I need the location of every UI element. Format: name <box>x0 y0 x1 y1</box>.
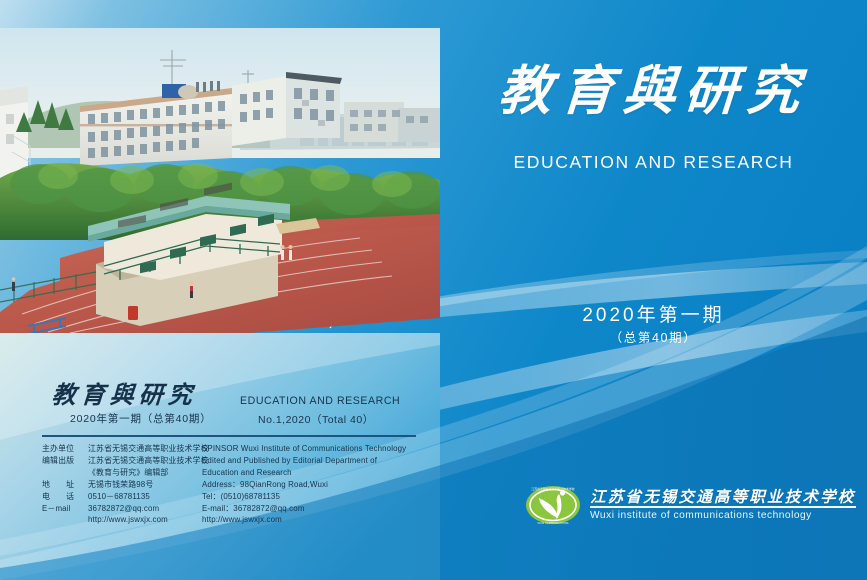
imprint-value-cn: 江苏省无锡交通高等职业技术学校 <box>88 443 209 455</box>
campus-photo <box>0 28 440 333</box>
imprint-label-cn: E－mail <box>42 503 88 515</box>
imprint-row-cn: 地 址无锡市钱荣路98号 <box>42 479 202 491</box>
imprint-row-cn: 主办单位江苏省无锡交通高等职业技术学校 <box>42 443 202 455</box>
logo-divider <box>590 506 856 508</box>
imprint-row-cn: 电 话0510－68781135 <box>42 491 202 503</box>
imprint-label-cn: 地 址 <box>42 479 88 491</box>
journal-cover-spread: 教育與研究 EDUCATION AND RESEARCH 2020年第一期 （总… <box>0 0 867 580</box>
logo-name-en: Wuxi institute of communications technol… <box>590 511 856 521</box>
imprint-column-en: SPINSOR Wuxi Institute of Communications… <box>202 443 422 526</box>
imprint-row-cn: http://www.jswxjx.com <box>42 514 202 526</box>
front-masthead-cn: 教育與研究 <box>438 62 867 120</box>
logo-name-cn: 江苏省无锡交通高等职业技术学校 <box>590 489 856 505</box>
imprint-row-cn: 《教育与研究》编辑部 <box>42 467 202 479</box>
imprint-value-cn: 36782872@qq.com <box>88 503 202 515</box>
imprint-row-en: http://www.jswxjx.com <box>202 514 422 526</box>
imprint-row-en: Address：98QianRong Road,Wuxi <box>202 479 422 491</box>
imprint-label-cn: 电 话 <box>42 491 88 503</box>
imprint-value-cn: 0510－68781135 <box>88 491 202 503</box>
imprint-label-cn <box>42 514 88 526</box>
imprint-value-cn: 《教育与研究》编辑部 <box>88 467 202 479</box>
front-masthead-en: EDUCATION AND RESEARCH <box>440 152 867 173</box>
imprint-row-en: Edited and Published by Editorial Depart… <box>202 455 422 467</box>
imprint-row-en: Tel：(0510)68781135 <box>202 491 422 503</box>
svg-text:江苏省无锡交通高等职业技术学校: 江苏省无锡交通高等职业技术学校 <box>531 486 574 491</box>
front-issue-total: （总第40期） <box>440 327 867 346</box>
imprint-value-cn: 江苏省无锡交通高等职业技术学校 <box>88 455 209 467</box>
imprint-row-cn: 编辑出版江苏省无锡交通高等职业技术学校 <box>42 455 202 467</box>
imprint-value-cn: 无锡市钱荣路98号 <box>88 479 202 491</box>
back-masthead-cn: 教育與研究 <box>51 375 198 410</box>
back-issue-cn: 2020年第一期（总第40期） <box>70 411 212 426</box>
school-emblem-icon: 江苏省无锡交通高等职业技术学校 WUXI COMMUNICATIONS <box>525 482 581 528</box>
svg-text:WUXI COMMUNICATIONS: WUXI COMMUNICATIONS <box>538 521 569 525</box>
front-issue-label: 2020年第一期 <box>440 300 867 327</box>
imprint-row-cn: E－mail36782872@qq.com <box>42 503 202 515</box>
back-cover: 教育與研究 2020年第一期（总第40期） EDUCATION AND RESE… <box>0 333 440 580</box>
imprint-label-cn: 主办单位 <box>42 443 88 455</box>
school-logo: 江苏省无锡交通高等职业技术学校 WUXI COMMUNICATIONS 江苏省无… <box>525 482 856 528</box>
imprint-block: 主办单位江苏省无锡交通高等职业技术学校编辑出版江苏省无锡交通高等职业技术学校《教… <box>42 443 422 526</box>
back-masthead-en: EDUCATION AND RESEARCH <box>240 395 400 407</box>
imprint-label-cn: 编辑出版 <box>42 455 88 467</box>
imprint-column-cn: 主办单位江苏省无锡交通高等职业技术学校编辑出版江苏省无锡交通高等职业技术学校《教… <box>42 443 202 526</box>
imprint-row-en: E-mail：36782872@qq.com <box>202 503 422 515</box>
imprint-row-en: Education and Research <box>202 467 422 479</box>
imprint-divider <box>42 435 416 437</box>
imprint-label-cn <box>42 467 88 479</box>
imprint-value-cn: http://www.jswxjx.com <box>88 514 202 526</box>
back-issue-en: No.1,2020（Total 40） <box>258 412 374 427</box>
imprint-row-en: SPINSOR Wuxi Institute of Communications… <box>202 443 422 455</box>
